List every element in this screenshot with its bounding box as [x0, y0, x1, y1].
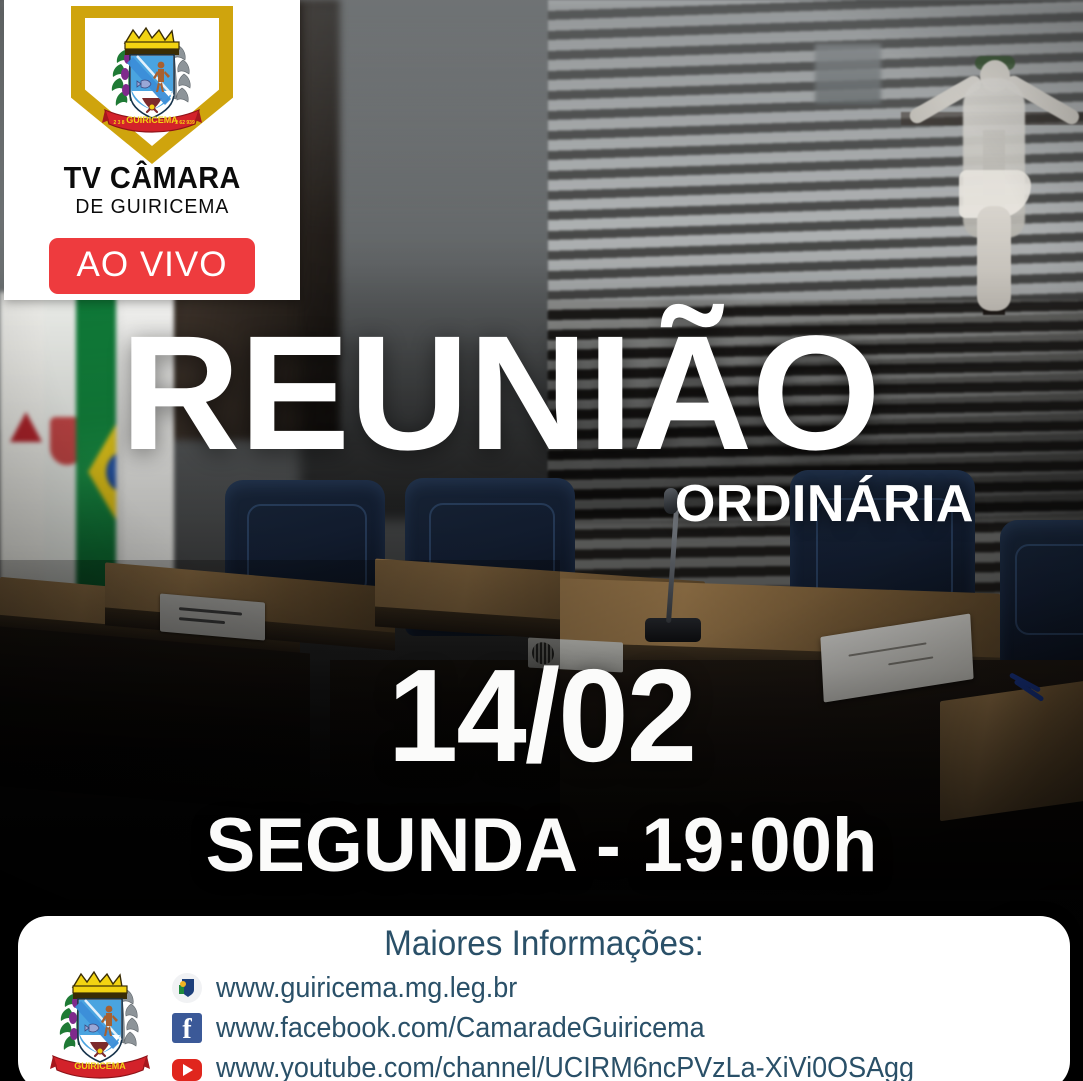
channel-name: TV CÂMARA	[63, 162, 240, 193]
channel-subtitle: DE GUIRICEMA	[75, 196, 229, 218]
facebook-icon	[172, 1013, 202, 1043]
guiricema-coat-of-arms-icon: GUIRICEMA 2 3 8 2 62 939	[97, 24, 207, 136]
svg-text:2 62 939: 2 62 939	[175, 120, 195, 126]
guiricema-coat-of-arms-icon: GUIRICEMA	[44, 966, 156, 1081]
contact-links-list: www.guiricema.mg.leg.br www.facebook.com…	[172, 970, 967, 1081]
youtube-link-label: www.youtube.com/channel/UCIRM6ncPVzLa-Xi…	[216, 1054, 914, 1081]
contact-info-panel: Maiores Informações:	[18, 916, 1070, 1081]
info-panel-body: GUIRICEMA www.guiricema.mg.leg.br	[18, 964, 1070, 1081]
website-shield-icon	[172, 973, 202, 1003]
facebook-link-label: www.facebook.com/CamaradeGuiricema	[216, 1014, 705, 1043]
live-broadcast-poster: GUIRICEMA 2 3 8 2 62 939 TV CÂMARA DE GU…	[0, 0, 1083, 1081]
list-item[interactable]: www.facebook.com/CamaradeGuiricema	[172, 1010, 967, 1046]
website-link-label: www.guiricema.mg.leg.br	[216, 974, 517, 1003]
svg-text:2 3 8: 2 3 8	[113, 120, 124, 126]
live-badge: AO VIVO	[49, 238, 256, 294]
tv-camara-logo-card: GUIRICEMA 2 3 8 2 62 939 TV CÂMARA DE GU…	[4, 0, 300, 300]
svg-text:GUIRICEMA: GUIRICEMA	[126, 115, 178, 125]
youtube-icon	[172, 1059, 202, 1081]
list-item[interactable]: www.youtube.com/channel/UCIRM6ncPVzLa-Xi…	[172, 1050, 967, 1081]
shield-logo: GUIRICEMA 2 3 8 2 62 939	[71, 6, 233, 166]
list-item[interactable]: www.guiricema.mg.leg.br	[172, 970, 967, 1006]
svg-text:GUIRICEMA: GUIRICEMA	[74, 1061, 126, 1071]
info-panel-title: Maiores Informações:	[44, 924, 1043, 964]
